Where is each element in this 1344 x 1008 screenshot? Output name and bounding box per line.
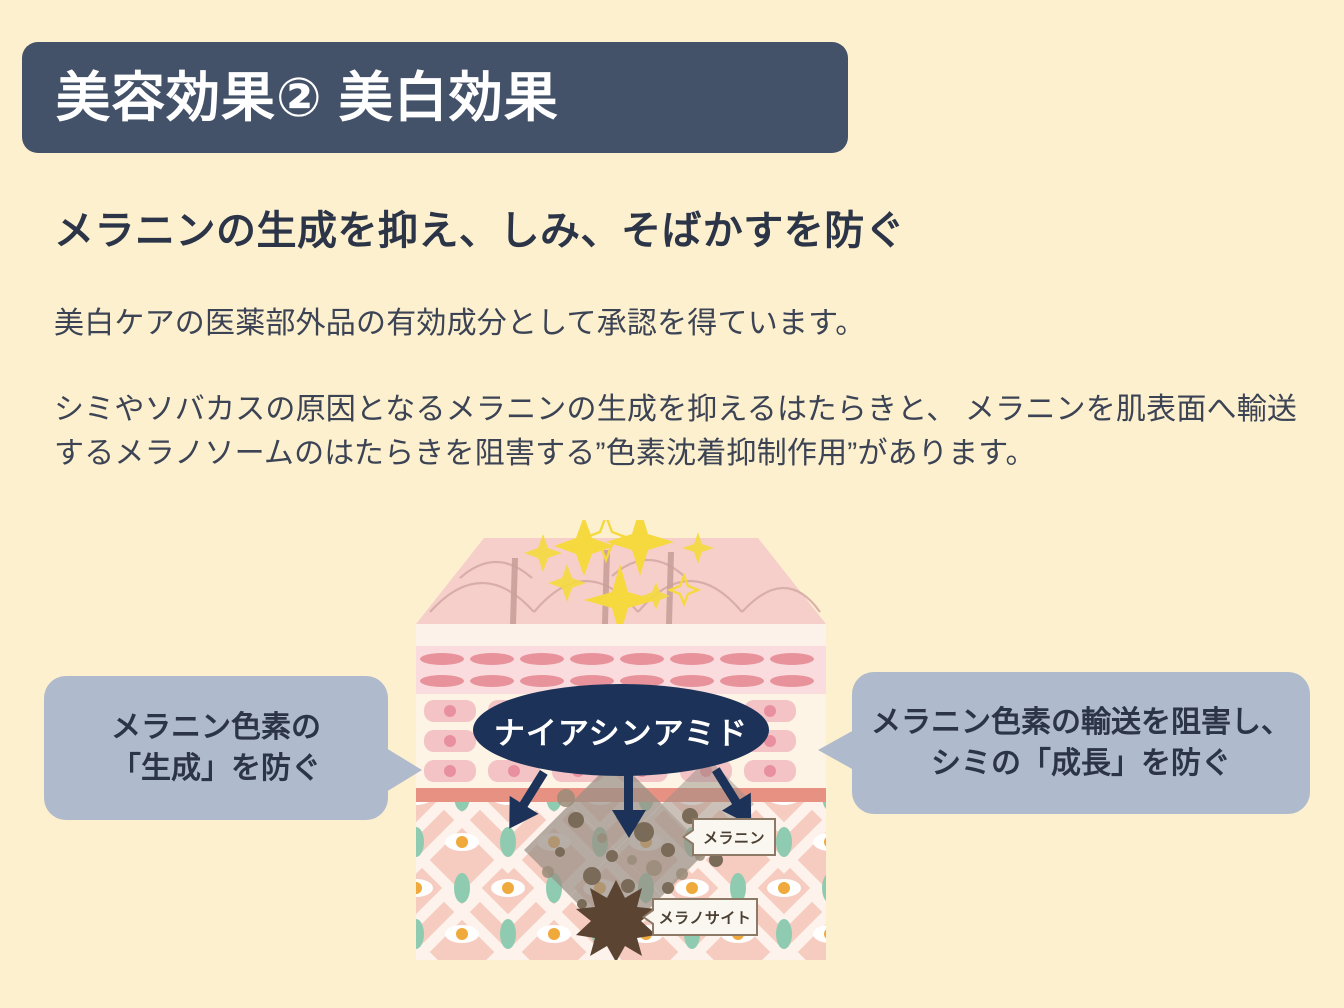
callout-left: メラニン色素の 「生成」を防ぐ: [44, 676, 388, 820]
body-paragraph-2: シミやソバカスの原因となるメラニンの生成を抑えるはたらきと、 メラニンを肌表面へ…: [54, 388, 1312, 475]
callout-tail-icon: [818, 730, 854, 770]
slide-root: 美容効果② 美白効果 メラニンの生成を抑え、しみ、そばかすを防ぐ 美白ケアの医薬…: [0, 0, 1344, 1008]
callout-right: メラニン色素の輸送を阻害し、 シミの「成長」を防ぐ: [852, 672, 1310, 814]
callout-left-line-1: メラニン色素の: [111, 707, 321, 748]
tag-melanin: メラニン: [692, 818, 776, 856]
section-headline: メラニンの生成を抑え、しみ、そばかすを防ぐ: [54, 198, 905, 256]
callout-right-line-1: メラニン色素の輸送を阻害し、: [871, 702, 1291, 743]
stratum-corneum-band: [416, 624, 826, 646]
callout-left-line-2: 「生成」を防ぐ: [111, 748, 321, 789]
ingredient-ellipse: ナイアシンアミド: [473, 684, 769, 776]
tag-melanocyte-label: メラノサイト: [659, 907, 752, 928]
tag-melanocyte: メラノサイト: [652, 898, 758, 936]
slide-title-bar: 美容効果② 美白効果: [22, 42, 848, 153]
tag-melanin-label: メラニン: [703, 827, 765, 848]
ingredient-label: ナイアシンアミド: [494, 708, 748, 753]
tag-notch-inner-icon: [645, 910, 655, 924]
tag-notch-inner-icon: [685, 830, 695, 844]
page-title: 美容効果② 美白効果: [22, 71, 559, 125]
callout-tail-icon: [386, 748, 422, 792]
callout-right-line-2: シミの「成長」を防ぐ: [871, 743, 1291, 784]
body-paragraph-1: 美白ケアの医薬部外品の有効成分として承認を得ています。: [54, 302, 1294, 346]
